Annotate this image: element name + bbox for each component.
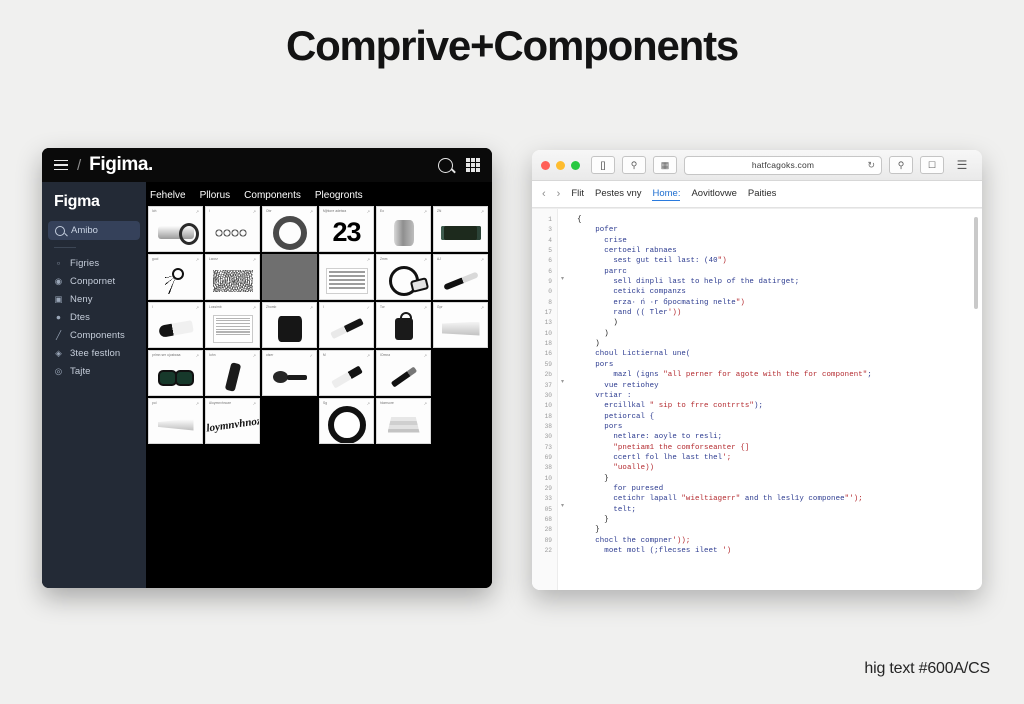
tab-home[interactable]: Home:: [652, 188, 680, 201]
sidebar-item-label: Neny: [70, 294, 93, 305]
cell-tick: ↗: [196, 353, 199, 358]
cell-tick: ↗: [253, 401, 256, 406]
cell-caption: AJ: [437, 257, 479, 262]
sidebar-item-tajte[interactable]: ◎ Tajte: [42, 362, 146, 380]
line-number: 37: [532, 381, 552, 391]
cell-caption: hlomsore: [380, 401, 422, 406]
hamburger-menu-icon[interactable]: ☰: [951, 157, 973, 173]
line-number: 10: [532, 474, 552, 484]
grid-cell[interactable]: M ↗: [319, 350, 374, 396]
figma-body: Figma Amibo ▫ Figries ◉ Conpornet ▣ Neny…: [42, 182, 492, 588]
cell-tick: ↗: [253, 353, 256, 358]
cell-tick: ↗: [424, 305, 427, 310]
brush-thumb-icon: [377, 360, 430, 393]
tab-paities[interactable]: Paities: [748, 188, 777, 200]
grid-cell[interactable]: Aloymnvhnoze ↗ Aloymnvhnoze: [205, 398, 260, 444]
line-number: 18: [532, 339, 552, 349]
code-line: sest gut teil last: (40"): [568, 256, 982, 266]
grid-cell[interactable]: Iuhn ↗: [205, 350, 260, 396]
tab-fehelve[interactable]: Fehelve: [150, 190, 186, 201]
grid-cell[interactable]: Zhomb ↗: [262, 302, 317, 348]
figma-canvas: Fehelve Pllorus Components Pleogronts Ic…: [146, 182, 492, 588]
grid-cell[interactable]: Obr ↗: [262, 206, 317, 252]
sidebar-item-conpornet[interactable]: ◉ Conpornet: [42, 272, 146, 290]
sidebar-title: Figma: [42, 191, 146, 221]
camera-thumb-icon: [149, 216, 202, 249]
code-line: erza· ń ·r бросmating nelte"): [568, 298, 982, 308]
sidebar-item-label: Tajte: [70, 366, 91, 377]
grid-cell[interactable]: AJ ↗: [433, 254, 488, 300]
spoon-thumb-icon: [263, 360, 316, 393]
cog-thumb-icon: [320, 408, 373, 441]
tripod-thumb-icon: [149, 264, 202, 297]
code-content[interactable]: { pofer crise certoeil rabnaes sest gut …: [558, 209, 982, 590]
link-icon: ◉: [54, 277, 63, 286]
line-number: 05: [532, 505, 552, 515]
code-line: petiorcal {: [568, 412, 982, 422]
line-number: 68: [532, 515, 552, 525]
cell-caption: ZN: [437, 209, 479, 214]
browser-tab-bar: ‹ › Flit Pestes vny Home: Aovitlovwe Pai…: [532, 181, 982, 208]
code-line: pors: [568, 360, 982, 370]
code-line: pofer: [568, 225, 982, 235]
cell-caption: guol: [152, 257, 194, 262]
sidebar-item-dtes[interactable]: ● Dtes: [42, 308, 146, 326]
cell-tick: ↗: [367, 257, 370, 262]
noise-thumb-icon: [206, 264, 259, 297]
grid-cell[interactable]: pol ↗: [148, 398, 203, 444]
grid-cell[interactable]: hlomsore ↗: [376, 398, 431, 444]
line-number: 8: [532, 298, 552, 308]
grid-cell[interactable]: Mjhtore adetwa ↗ 23: [319, 206, 374, 252]
code-line: for puresed: [568, 484, 982, 494]
cell-caption: olser: [266, 353, 308, 358]
grid-row: prlmn ser ujostwaa ↗ Iuhn ↗ olser ✓ M ↗: [148, 350, 490, 396]
sidebar-item-label: Components: [70, 330, 125, 341]
code-line: }: [568, 515, 982, 525]
number-23-thumb: 23: [320, 216, 373, 249]
cell-tick: ✓: [310, 353, 313, 358]
code-line: ): [568, 318, 982, 328]
cell-caption: Lworz: [209, 257, 251, 262]
cell-tick: ↗: [310, 305, 313, 310]
line-number: 18: [532, 412, 552, 422]
cell-caption: l: [152, 305, 194, 310]
grid-cell[interactable]: Sg ↗: [319, 398, 374, 444]
tab-flit[interactable]: Flit: [571, 188, 584, 200]
grid-row: guol ↗ Lworz ↗ ↗ Zmm: [148, 254, 490, 300]
grid-cell[interactable]: ZN ↗: [433, 206, 488, 252]
cell-tick: ↗: [253, 305, 256, 310]
grid-row: pol ↗ Aloymnvhnoze ↗ Aloymnvhnoze Sg ↗ h…: [148, 398, 490, 444]
line-number: 30: [532, 391, 552, 401]
cell-tick: ✓: [367, 305, 370, 310]
glasses-thumb-icon: [149, 360, 202, 393]
code-line: {: [568, 215, 982, 225]
gray-panel-thumb: [263, 264, 316, 297]
marker-thumb-icon: [320, 360, 373, 393]
grid-cell[interactable]: guol ↗: [148, 254, 203, 300]
line-number: 10: [532, 329, 552, 339]
code-scrollbar[interactable]: [974, 217, 978, 309]
code-editor[interactable]: 1345669081713101816592b37301018383073693…: [532, 208, 982, 590]
caption-text: hig text #600A/CS: [864, 660, 990, 678]
cylinder-thumb-icon: [377, 216, 430, 249]
cell-caption: Gpr: [437, 305, 479, 310]
board-thumb-icon: [434, 216, 487, 249]
sidebar-item-label: Conpornet: [70, 276, 115, 287]
pen-icon: ╱: [54, 331, 63, 340]
code-line: telt;: [568, 505, 982, 515]
figma-topbar-actions: [438, 148, 480, 182]
grid-cell[interactable]: ↗: [319, 254, 374, 300]
code-line: chocl the compner'));: [568, 536, 982, 546]
grid-cell[interactable]: olser ✓: [262, 350, 317, 396]
code-line: moet motl (;flecses ileet '): [568, 546, 982, 556]
line-number: 38: [532, 422, 552, 432]
droplet-icon: ◈: [54, 349, 63, 358]
code-line: "pnetiam1 the comforseanter {]: [568, 443, 982, 453]
cell-caption: Obr: [266, 209, 308, 214]
cell-caption: Zmm: [380, 257, 422, 262]
line-number: 0: [532, 287, 552, 297]
line-number: 59: [532, 360, 552, 370]
ring-thumb-icon: [263, 216, 316, 249]
url-bar[interactable]: hatfcagoks.com ↻: [684, 156, 882, 175]
sidebar-item-neny[interactable]: ▣ Neny: [42, 290, 146, 308]
figma-sidebar: Figma Amibo ▫ Figries ◉ Conpornet ▣ Neny…: [42, 182, 146, 588]
code-line: ceticki companzs: [568, 287, 982, 297]
stack-thumb-icon: [377, 408, 430, 441]
line-number: 16: [532, 349, 552, 359]
cell-tick: ↗: [253, 257, 256, 262]
pen-thumb-icon: [434, 264, 487, 297]
code-line: parrc: [568, 267, 982, 277]
cell-caption: Mjhtore adetwa: [323, 209, 365, 214]
grid-apps-icon[interactable]: [466, 158, 480, 172]
code-line: cetichr lapall "wieltiagerr" and th lesl…: [568, 494, 982, 504]
reload-icon[interactable]: ↻: [867, 160, 875, 171]
browser-window: [] ⚲ ▦ hatfcagoks.com ↻ ⚲ ☐ ☰ ‹ › Flit P…: [532, 150, 982, 590]
code-line: ): [568, 339, 982, 349]
line-number: 6: [532, 256, 552, 266]
maximize-window-button[interactable]: [571, 161, 580, 170]
sidebar-item-label: Dtes: [70, 312, 90, 323]
grid-cell[interactable]: l ✓: [319, 302, 374, 348]
code-line: ccertl fol lhe last thel';: [568, 453, 982, 463]
chevron-left-icon[interactable]: ‹: [542, 188, 546, 200]
cell-tick: ↗: [310, 209, 313, 214]
ui-thumb-icon: [320, 264, 373, 297]
line-number: 69: [532, 453, 552, 463]
sidebar-toggle-icon[interactable]: []: [591, 156, 615, 174]
grid-cell-empty: [262, 398, 317, 444]
search-icon[interactable]: ⚲: [622, 156, 646, 174]
line-number: 10: [532, 401, 552, 411]
cell-caption: l: [323, 305, 365, 310]
code-line: }: [568, 525, 982, 535]
loupe-thumb-icon: [377, 264, 430, 297]
shoe-thumb-icon: [149, 312, 202, 345]
grid-cell[interactable]: prlmn ser ujostwaa ↗: [148, 350, 203, 396]
document-thumb-icon: [206, 312, 259, 345]
cell-tick: ↗: [481, 305, 484, 310]
code-line: ): [568, 329, 982, 339]
cell-tick: ↗: [367, 209, 370, 214]
line-number: 22: [532, 546, 552, 556]
sidebar-item-figries[interactable]: ▫ Figries: [42, 254, 146, 272]
grid-cell[interactable]: l ↗: [205, 206, 260, 252]
page-title: Comprive+Components: [0, 22, 1024, 70]
code-line: vrtiar :: [568, 391, 982, 401]
figma-topbar: / Figima.: [42, 148, 492, 182]
url-text: hatfcagoks.com: [752, 160, 814, 170]
line-number: 89: [532, 536, 552, 546]
circle-icon: ●: [54, 313, 63, 322]
cell-tick: ↗: [196, 305, 199, 310]
cell-tick: ↗: [424, 353, 427, 358]
line-number: 3: [532, 225, 552, 235]
grid-cell[interactable]: Gpr ↗: [433, 302, 488, 348]
sidebar-search-value: Amibo: [71, 225, 98, 236]
grid-cell[interactable]: Ich ↗: [148, 206, 203, 252]
line-number-gutter: 1345669081713101816592b37301018383073693…: [532, 209, 558, 590]
grid-cell[interactable]: Zmm ↗: [376, 254, 431, 300]
sidebar-item-3tee-festlon[interactable]: ◈ 3tee festlon: [42, 344, 146, 362]
line-number: 29: [532, 484, 552, 494]
figma-app-window: / Figima. Figma Amibo ▫ Figries ◉ Conpor…: [42, 148, 492, 588]
roll-thumb-icon: [434, 312, 487, 345]
minimize-window-button[interactable]: [556, 161, 565, 170]
cell-caption: Zhomb: [266, 305, 308, 310]
fold-marker-icon[interactable]: ▾: [561, 502, 564, 509]
sidebar-search-input[interactable]: Amibo: [48, 221, 140, 240]
line-number: 1: [532, 215, 552, 225]
cell-caption: Iuhn: [209, 353, 251, 358]
cell-caption: Ich: [152, 209, 194, 214]
tab-pleogronts[interactable]: Pleogronts: [315, 190, 363, 201]
cell-caption: Tor: [380, 305, 422, 310]
cell-tick: ↗: [424, 257, 427, 262]
grid-cell[interactable]: IOmna ↗: [376, 350, 431, 396]
line-number: 4: [532, 236, 552, 246]
cell-caption: Lossimb: [209, 305, 251, 310]
search-icon[interactable]: [438, 158, 453, 173]
code-line: vue retiohey: [568, 381, 982, 391]
cell-tick: ↗: [196, 257, 199, 262]
line-number: 9: [532, 277, 552, 287]
code-line: ercillkal " sip to frre contrrts");: [568, 401, 982, 411]
tab-aovitlovwe[interactable]: Aovitlovwe: [691, 188, 736, 200]
code-line: mazl (igns "all perner for agote with th…: [568, 370, 982, 380]
chain-thumb-icon: [206, 216, 259, 249]
line-number: 30: [532, 432, 552, 442]
cap-thumb-icon: [377, 312, 430, 345]
search-icon: [55, 226, 65, 236]
cell-caption: M: [323, 353, 365, 358]
line-number: 5: [532, 246, 552, 256]
figma-brand-label: Figima.: [89, 154, 153, 176]
sidebar-item-label: Figries: [70, 258, 99, 269]
cell-tick: ↗: [253, 209, 256, 214]
cell-tick: ↗: [196, 401, 199, 406]
grid-row: Ich ↗ l ↗ Obr ↗ Mjhtore adetwa ↗: [148, 206, 490, 252]
grid-cell[interactable]: Tor ↗: [376, 302, 431, 348]
sidebar-item-label: 3tee festlon: [70, 348, 120, 359]
fold-marker-icon[interactable]: ▾: [561, 275, 564, 282]
grid-cell[interactable]: Eo ↗: [376, 206, 431, 252]
grid-cell-empty: [433, 398, 488, 444]
lamp-thumb-icon: [149, 408, 202, 441]
bottle-thumb-icon: [206, 360, 259, 393]
line-number: 73: [532, 443, 552, 453]
grid-cell-empty: [433, 350, 488, 396]
window-traffic-lights[interactable]: [541, 161, 580, 170]
code-line: netlare: aoyle to resli;: [568, 432, 982, 442]
cell-tick: ↗: [367, 401, 370, 406]
cell-tick: ↗: [424, 401, 427, 406]
grid-cell[interactable]: [262, 254, 317, 300]
knife-thumb-icon: [320, 312, 373, 345]
cell-caption: pol: [152, 401, 194, 406]
line-number: 33: [532, 494, 552, 504]
frame-icon: ▣: [54, 295, 63, 304]
tabs-icon[interactable]: ☐: [920, 156, 944, 174]
tab-pllorus[interactable]: Pllorus: [200, 190, 231, 201]
cell-tick: ↗: [424, 209, 427, 214]
cell-tick: ↗: [481, 257, 484, 262]
cell-caption: Eo: [380, 209, 422, 214]
close-window-button[interactable]: [541, 161, 550, 170]
tab-components[interactable]: Components: [244, 190, 301, 201]
cell-caption: IOmna: [380, 353, 422, 358]
browser-toolbar: [] ⚲ ▦ hatfcagoks.com ↻ ⚲ ☐ ☰: [532, 150, 982, 181]
cell-caption: [323, 257, 365, 262]
code-line: rand (( Tler')): [568, 308, 982, 318]
line-number: 17: [532, 308, 552, 318]
tab-pestes-vny[interactable]: Pestes vny: [595, 188, 641, 200]
grid-row: l ↗ Lossimb ↗ Zhomb ↗ l ✓: [148, 302, 490, 348]
cell-caption: l: [209, 209, 251, 214]
grid-cell[interactable]: Lworz ↗: [205, 254, 260, 300]
line-number: 13: [532, 318, 552, 328]
trash-icon: ▫: [54, 259, 63, 268]
puck-thumb-icon: [263, 312, 316, 345]
sidebar-item-components[interactable]: ╱ Components: [42, 326, 146, 344]
code-line: }: [568, 474, 982, 484]
breadcrumb-separator: /: [77, 157, 81, 174]
chevron-right-icon[interactable]: ›: [557, 188, 561, 200]
figma-tab-bar: Fehelve Pllorus Components Pleogronts: [148, 184, 490, 206]
cell-caption: Aloymnvhnoze: [209, 401, 251, 406]
cell-tick: ↗: [481, 209, 484, 214]
code-line: pors: [568, 422, 982, 432]
cell-tick: ↗: [367, 353, 370, 358]
code-line: choul Lictiernal une(: [568, 349, 982, 359]
grid-cell[interactable]: l ↗: [148, 302, 203, 348]
code-line: "uoalle)): [568, 463, 982, 473]
code-line: certoeil rabnaes: [568, 246, 982, 256]
shield-icon: ◎: [54, 367, 63, 376]
line-number: 2b: [532, 370, 552, 380]
shield-icon[interactable]: ▦: [653, 156, 677, 174]
line-number: 28: [532, 525, 552, 535]
line-number: 6: [532, 267, 552, 277]
grid-cell[interactable]: Lossimb ↗: [205, 302, 260, 348]
cell-caption: prlmn ser ujostwaa: [152, 353, 194, 358]
line-number: 38: [532, 463, 552, 473]
cell-tick: ↗: [196, 209, 199, 214]
script-thumb-icon: Aloymnvhnoze: [206, 408, 259, 441]
code-line: crise: [568, 236, 982, 246]
code-line: sell dinpli last to help of the datirget…: [568, 277, 982, 287]
hamburger-icon[interactable]: [54, 160, 68, 171]
zoom-search-icon[interactable]: ⚲: [889, 156, 913, 174]
fold-marker-icon[interactable]: ▾: [561, 378, 564, 385]
sidebar-divider: [54, 247, 76, 248]
